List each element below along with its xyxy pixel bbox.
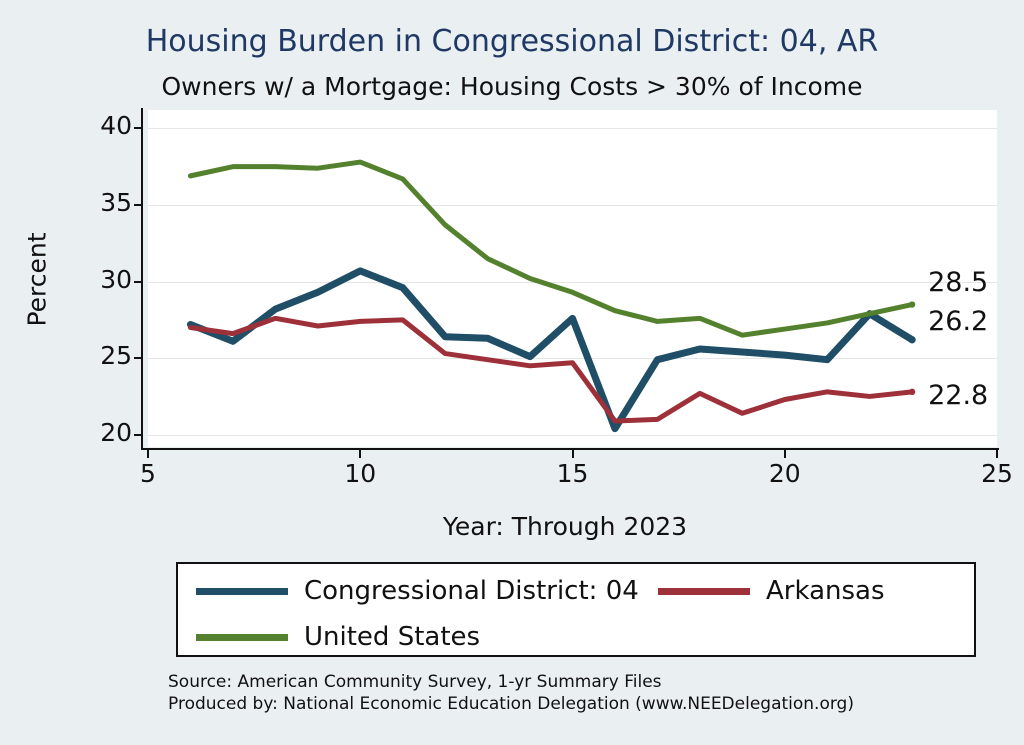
x-tick-mark [996,450,998,458]
y-tick-label: 20 [72,418,132,447]
legend-label-united-states: United States [304,622,480,652]
y-tick-label: 25 [72,341,132,370]
x-tick-label: 5 [118,459,178,488]
legend-item-arkansas: Arkansas [658,576,885,606]
x-tick-label: 10 [330,459,390,488]
y-tick-mark [134,204,142,206]
series-lines [148,110,997,447]
produced-by-note: Produced by: National Economic Education… [168,694,854,714]
chart-canvas: Housing Burden in Congressional District… [0,0,1024,745]
series-end-label: 28.5 [928,267,988,298]
legend-swatch-cd04 [196,588,288,595]
series-line [190,271,912,429]
legend-label-arkansas: Arkansas [766,576,885,606]
y-tick-label: 40 [72,111,132,140]
x-tick-label: 15 [543,459,603,488]
chart-title: Housing Burden in Congressional District… [0,24,1024,59]
x-tick-mark [147,450,149,458]
series-end-point [909,336,916,343]
x-tick-mark [784,450,786,458]
chart-subtitle: Owners w/ a Mortgage: Housing Costs > 30… [0,72,1024,101]
series-end-point [909,389,915,395]
series-end-point [909,301,915,307]
y-tick-mark [134,281,142,283]
series-line [190,162,912,335]
x-tick-mark [572,450,574,458]
x-tick-label: 20 [755,459,815,488]
legend-item-cd04: Congressional District: 04 [196,576,639,606]
y-tick-mark [134,434,142,436]
x-axis-line [141,448,999,450]
x-tick-label: 25 [967,459,1024,488]
plot-area [148,110,997,447]
legend-swatch-arkansas [658,588,750,595]
chart-legend: Congressional District: 04 Arkansas Unit… [176,562,976,657]
legend-item-united-states: United States [196,622,480,652]
y-tick-label: 30 [72,265,132,294]
x-axis-label: Year: Through 2023 [130,512,1000,541]
source-note: Source: American Community Survey, 1-yr … [168,672,662,692]
legend-swatch-united-states [196,634,288,641]
series-end-label: 26.2 [928,306,988,337]
y-axis-label: Percent [23,180,52,380]
y-tick-mark [134,357,142,359]
x-tick-mark [359,450,361,458]
series-end-label: 22.8 [928,380,988,411]
y-axis-line [141,108,143,450]
y-tick-label: 35 [72,188,132,217]
legend-label-cd04: Congressional District: 04 [304,576,639,606]
y-tick-mark [134,127,142,129]
